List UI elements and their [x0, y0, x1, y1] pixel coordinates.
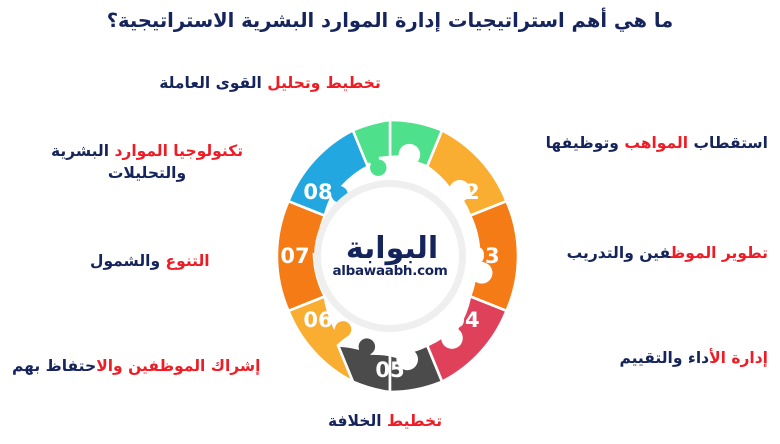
- label-08-line2: والتحليلات: [108, 164, 186, 182]
- segment-number-01: 01: [390, 161, 419, 185]
- label-05-red: تخطيط: [387, 412, 442, 430]
- puzzle-segment-06[interactable]: 06: [288, 296, 352, 381]
- label-06-navy: حتفاظ بهم: [12, 357, 96, 375]
- label-06-red: إشراك الموظفين والا: [96, 357, 260, 375]
- logo-domain: albawaabh.com: [332, 265, 447, 279]
- segment-number-05: 05: [375, 358, 404, 382]
- puzzle-segment-03[interactable]: 03: [470, 201, 518, 311]
- label-02-navy-b: وتوظيفها: [546, 134, 619, 152]
- label-01: تخطيط وتحليل القوى العاملة: [0, 72, 540, 94]
- center-logo: البوابة albawaabh.com: [321, 187, 459, 325]
- puzzle-segment-05[interactable]: 05: [338, 337, 442, 392]
- label-02: استقطاب المواهب وتوظيفها: [546, 132, 768, 154]
- page-title: ما هي أهم استراتيجيات إدارة الموارد البش…: [0, 8, 780, 34]
- segment-number-04: 04: [450, 308, 479, 332]
- label-05-navy: الخلافة: [328, 412, 382, 430]
- label-03-red: تطوير الموظ: [671, 244, 768, 262]
- label-06: إشراك الموظفين والاحتفاظ بهم: [12, 355, 260, 377]
- logo-wordmark: البوابة: [346, 234, 438, 264]
- segment-number-07: 07: [280, 244, 309, 268]
- label-05: تخطيط الخلافة: [240, 410, 530, 432]
- segment-number-03: 03: [470, 244, 499, 268]
- label-07-red: التنوع: [166, 252, 210, 270]
- label-02-navy-a: استقطاب: [693, 134, 768, 152]
- infographic-canvas: ما هي أهم استراتيجيات إدارة الموارد البش…: [0, 0, 780, 444]
- label-03: تطوير الموظفين والتدريب: [567, 242, 768, 264]
- label-02-red: المواهب: [624, 134, 688, 152]
- segment-number-06: 06: [303, 308, 332, 332]
- puzzle-segment-04[interactable]: 04: [427, 296, 506, 381]
- segment-number-08: 08: [303, 180, 332, 204]
- label-01-red: تخطيط وتحليل: [267, 74, 381, 92]
- label-04: إدارة الأداء والتقييم: [619, 347, 768, 369]
- label-08: تكنولوجيا الموارد البشرية والتحليلات: [22, 140, 272, 185]
- segment-number-02: 02: [450, 180, 479, 204]
- label-04-red: إدارة الأ: [709, 349, 768, 367]
- label-07: التنوع والشمول: [90, 250, 210, 272]
- label-01-navy: القوى العاملة: [159, 74, 262, 92]
- label-08-red: تكنولوجيا الموارد: [114, 142, 243, 160]
- label-07-navy: والشمول: [90, 252, 160, 270]
- label-03-navy: فين والتدريب: [567, 244, 671, 262]
- label-04-navy: داء والتقييم: [619, 349, 709, 367]
- puzzle-segment-02[interactable]: 02: [427, 130, 506, 215]
- label-08-navy: البشرية: [51, 142, 109, 160]
